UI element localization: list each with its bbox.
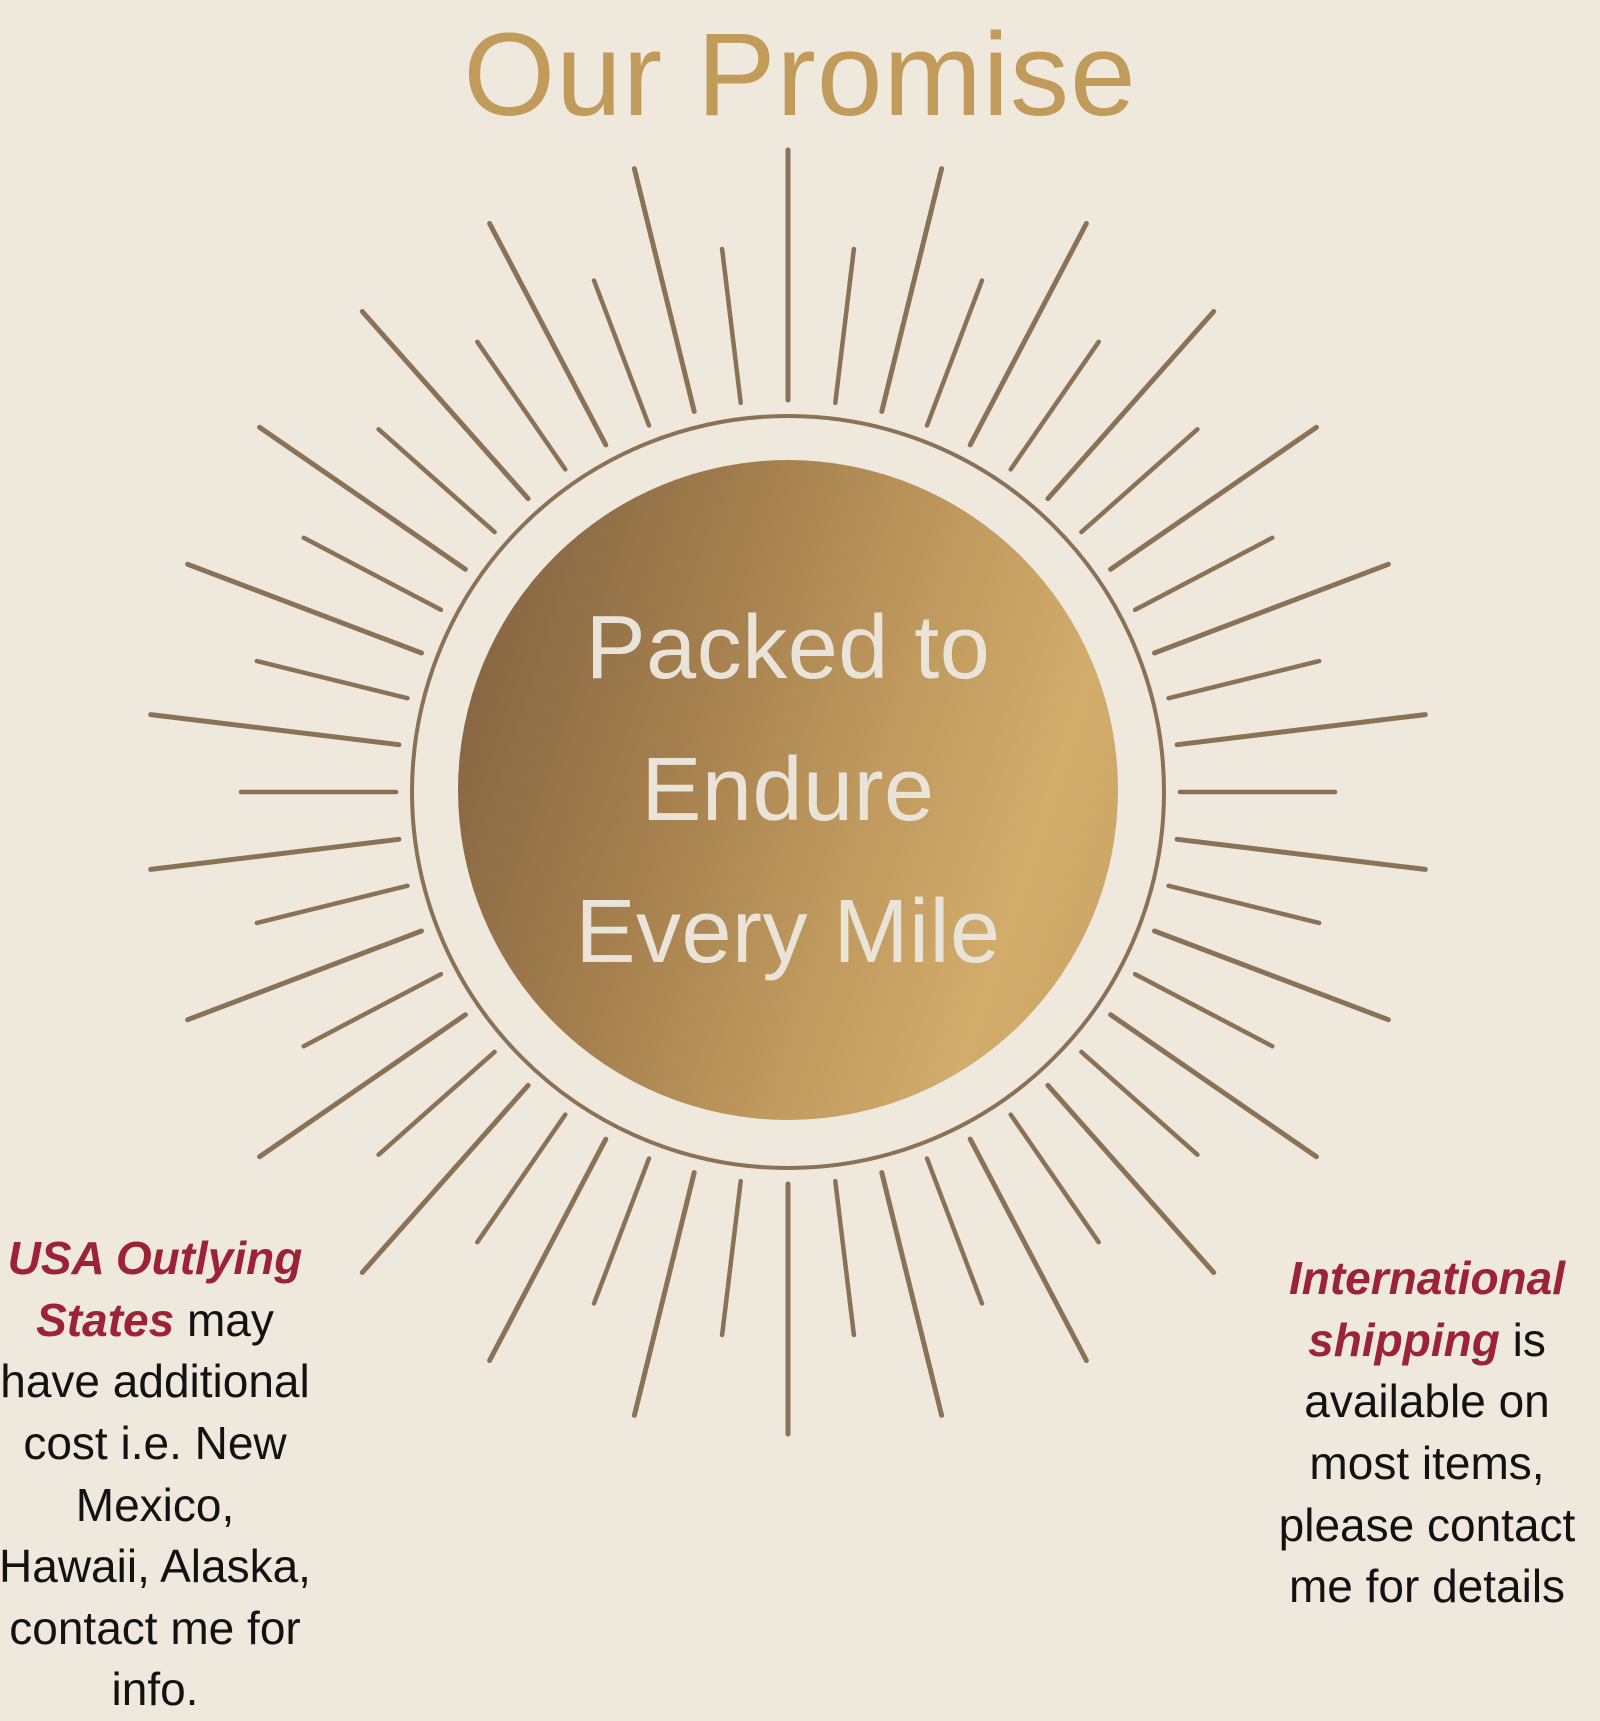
sunburst-ray [1155,931,1389,1020]
sunburst-ray [594,1159,649,1304]
sunburst-ray [151,839,399,869]
sunburst-ray [1177,839,1425,869]
promise-graphic: Our Promise Packed to Endure Every Mile … [0,0,1600,1600]
disc-line-3: Every Mile [575,861,1000,1003]
sunburst-ray [594,281,649,426]
sunburst-ray [188,564,422,653]
usa-outlying-states-note: USA Outlying States may have additional … [0,1228,316,1721]
sunburst-ray [1135,538,1272,610]
sunburst-ray [257,886,408,923]
usa-outlying-states-body: may have additional cost i.e. New Mexico… [0,1294,311,1716]
sunburst-ray [1011,342,1099,470]
disc-text: Packed to Endure Every Mile [458,460,1118,1120]
sunburst-ray [1011,1115,1099,1243]
sunburst-ray [1111,427,1317,569]
sunburst-ray [970,1139,1086,1360]
page-title: Our Promise [0,14,1600,138]
sunburst-ray [304,538,441,610]
sunburst-ray [1169,886,1320,923]
sunburst-ray [151,715,399,745]
sunburst-ray [490,224,606,445]
sunburst-ray [1169,661,1320,698]
sunburst-ray [1135,974,1272,1046]
sunburst-ray [882,1173,942,1416]
sunburst-ray [882,169,942,412]
sunburst-ray [1111,1015,1317,1157]
sunburst-ray [927,1159,982,1304]
sunburst-ray [477,1115,565,1243]
sunburst-ray [927,281,982,426]
sunburst-ray [835,1181,854,1335]
sunburst-ray [722,1181,741,1335]
sunburst-ray [188,931,422,1020]
sunburst-ray [835,249,854,403]
international-shipping-note: International shipping is available on m… [1262,1248,1592,1618]
sunburst-ray [1155,564,1389,653]
sunburst-ray [490,1139,606,1360]
sunburst-ray [634,169,694,412]
sunburst-ray [970,224,1086,445]
sunburst-ray [257,661,408,698]
sunburst-ray [1177,715,1425,745]
sunburst-ray [260,427,466,569]
sunburst-ray [260,1015,466,1157]
sunburst-ray [304,974,441,1046]
sunburst-ray [722,249,741,403]
sunburst-ray [634,1173,694,1416]
disc-line-1: Packed to [586,577,991,719]
disc-line-2: Endure [641,719,934,861]
sunburst-ray [477,342,565,470]
